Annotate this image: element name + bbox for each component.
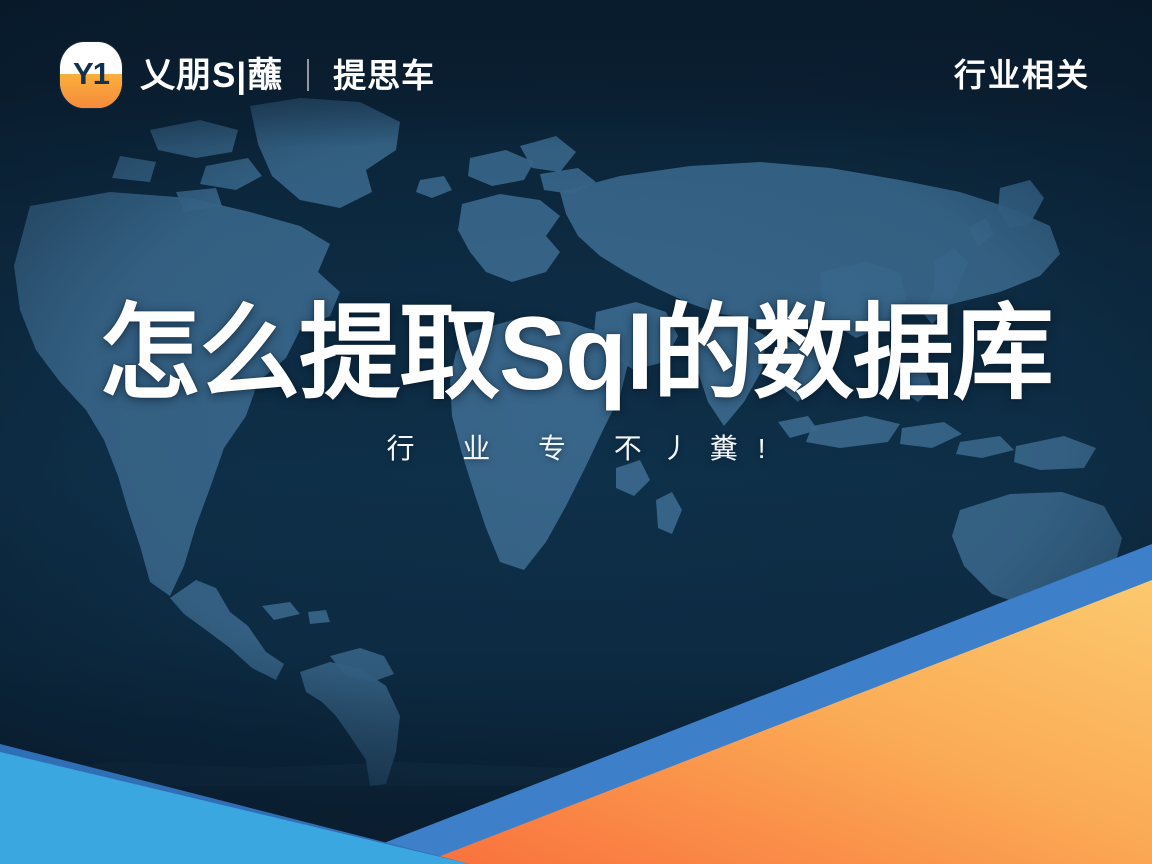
hero-block: 怎么提取Sql的数据库 行 业 专 不丿糞! — [0, 300, 1152, 463]
slide-subtitle: 行 业 专 不丿糞! — [40, 435, 1112, 463]
brand-lockup: Y1 乂朋S|蘸 提思车 — [60, 42, 435, 108]
header-category-tag: 行业相关 — [954, 59, 1090, 91]
brand-subname: 提思车 — [333, 59, 435, 92]
brand-divider — [307, 59, 309, 91]
brand-name: 乂朋S|蘸 — [140, 58, 283, 93]
presentation-slide: Y1 乂朋S|蘸 提思车 行业相关 怎么提取Sql的数据库 行 业 专 不丿糞! — [0, 0, 1152, 864]
slide-title: 怎么提取Sql的数据库 — [56, 300, 1096, 409]
slide-header: Y1 乂朋S|蘸 提思车 行业相关 — [0, 0, 1152, 150]
logo-monogram: Y1 — [60, 42, 122, 108]
yi-brand-logo-icon: Y1 — [60, 42, 122, 108]
